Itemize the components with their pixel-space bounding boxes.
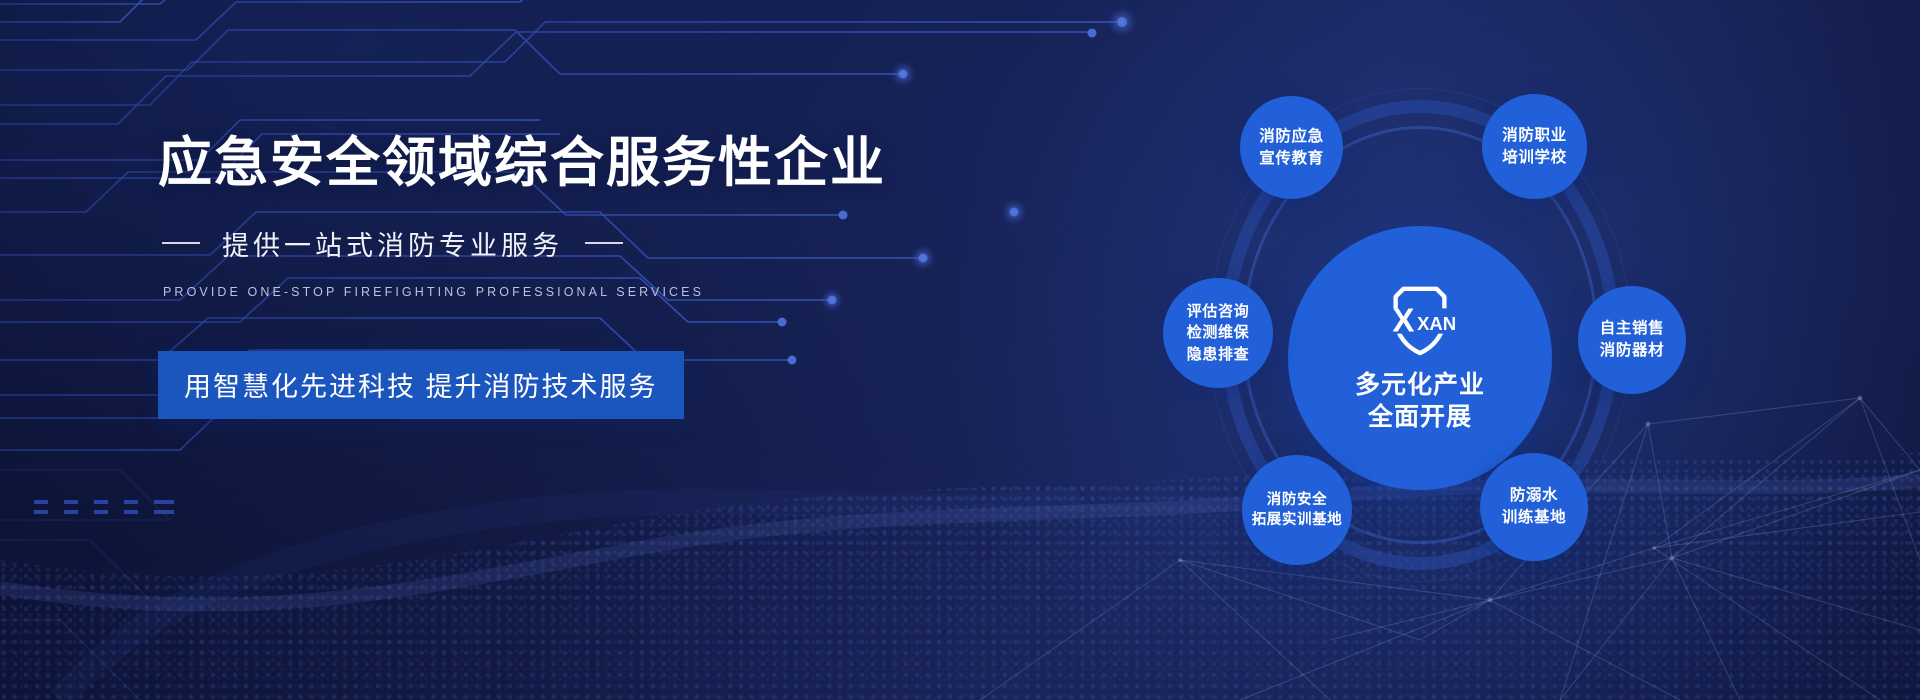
center-line-1: 多元化产业: [1355, 369, 1485, 402]
center-line-2: 全面开展: [1355, 401, 1485, 434]
subtitle-row: 提供一站式消防专业服务: [162, 224, 918, 263]
node-line-2: 宣传教育: [1259, 148, 1323, 170]
node-line-1: 消防职业: [1502, 125, 1566, 147]
node-line-1: 自主销售: [1600, 318, 1664, 340]
node-line-1: 消防安全: [1267, 490, 1327, 510]
page-title: 应急安全领域综合服务性企业: [158, 132, 918, 196]
node-line-2: 培训学校: [1502, 147, 1566, 169]
svg-text:X: X: [1392, 302, 1414, 339]
dash-left-icon: [162, 242, 200, 244]
node-line-1: 防溺水: [1510, 485, 1558, 507]
node-line-3: 隐患排查: [1187, 344, 1249, 365]
dash-right-icon: [585, 242, 623, 244]
node-line-2: 训练基地: [1502, 507, 1566, 529]
svg-text:XAN: XAN: [1417, 312, 1455, 333]
diagram-node-equipment-sales[interactable]: 自主销售 消防器材: [1578, 286, 1686, 394]
node-line-1: 评估咨询: [1187, 301, 1249, 322]
diagram-node-safety-training-base[interactable]: 消防安全 拓展实训基地: [1242, 455, 1352, 565]
services-circle-diagram: X XAN 多元化产业 全面开展 消防应急 宣传教育 消防职业 培训学校 评估咨…: [1090, 78, 1750, 618]
node-line-1: 消防应急: [1259, 126, 1323, 148]
diagram-center-node[interactable]: X XAN 多元化产业 全面开展: [1288, 226, 1552, 490]
subtitle-chinese: 提供一站式消防专业服务: [222, 224, 563, 263]
diagram-node-fire-emergency-education[interactable]: 消防应急 宣传教育: [1240, 96, 1343, 199]
node-line-2: 检测维保: [1187, 322, 1249, 343]
node-line-2: 拓展实训基地: [1252, 510, 1343, 530]
diagram-node-vocational-training-school[interactable]: 消防职业 培训学校: [1482, 94, 1587, 199]
shield-logo-icon: X XAN: [1385, 283, 1455, 359]
hero-banner: 应急安全领域综合服务性企业 提供一站式消防专业服务 PROVIDE ONE-ST…: [0, 0, 1920, 700]
cta-button[interactable]: 用智慧化先进科技 提升消防技术服务: [158, 351, 684, 419]
hero-content: 应急安全领域综合服务性企业 提供一站式消防专业服务 PROVIDE ONE-ST…: [158, 132, 918, 419]
diagram-node-anti-drowning-base[interactable]: 防溺水 训练基地: [1480, 453, 1588, 561]
diagram-node-assessment-inspection[interactable]: 评估咨询 检测维保 隐患排查: [1163, 278, 1273, 388]
node-line-2: 消防器材: [1600, 340, 1664, 362]
subtitle-english: PROVIDE ONE-STOP FIREFIGHTING PROFESSION…: [163, 285, 918, 299]
